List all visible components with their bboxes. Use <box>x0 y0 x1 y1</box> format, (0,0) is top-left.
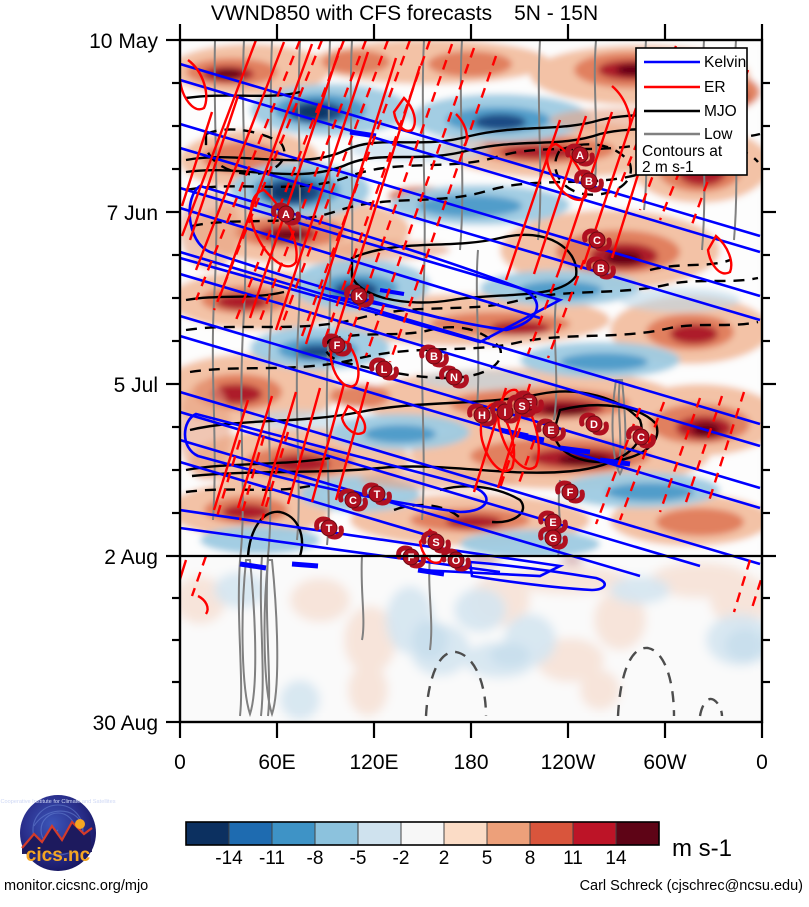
legend-label-er: ER <box>704 79 726 96</box>
chart-legend: Kelvin ER MJO Low Contours at 2 m s-1 <box>636 48 747 176</box>
svg-text:F: F <box>408 552 415 564</box>
colorbar-swatch-3 <box>315 822 358 845</box>
colorbar-swatch-5 <box>401 822 444 845</box>
colorbar-tick-label-9: 14 <box>605 848 627 869</box>
x-tick-label-4: 120W <box>541 751 596 774</box>
logo-ring-text: Cooperative Institute for Climate and Sa… <box>0 799 115 805</box>
svg-text:T: T <box>326 523 333 535</box>
colorbar-tick-label-3: -5 <box>350 848 367 869</box>
svg-text:H: H <box>478 410 486 422</box>
hovmoller-figure: VWND850 with CFS forecasts5N - 15N <box>0 0 809 907</box>
y-tick-label-0: 10 May <box>89 30 158 53</box>
y-tick-label-1: 7 Jun <box>107 202 158 225</box>
colorbar-tick-label-5: 2 <box>439 848 450 869</box>
y-tick-label-2: 5 Jul <box>114 374 158 397</box>
x-axis-labels: 0 60E 120E 180 120W 60W 0 <box>174 751 768 774</box>
y-tick-label-3: 2 Aug <box>104 546 158 569</box>
svg-text:B: B <box>430 351 438 363</box>
x-tick-label-5: 60W <box>643 751 686 774</box>
colorbar-tick-label-7: 8 <box>525 848 536 869</box>
svg-text:C: C <box>349 495 357 507</box>
svg-text:B: B <box>597 263 605 275</box>
colorbar-tick-label-1: -11 <box>259 848 285 869</box>
hovmoller-chart: AABCBKFLBNHIESEDCFCTEGTFSO <box>0 0 809 907</box>
colorbar-swatch-6 <box>444 822 487 845</box>
x-tick-label-1: 60E <box>258 751 295 774</box>
colorbar-tick-label-0: -14 <box>215 848 243 869</box>
legend-note-line1: Contours at <box>642 143 723 160</box>
svg-text:T: T <box>374 489 381 501</box>
svg-text:A: A <box>282 209 290 221</box>
colorbar-swatch-9 <box>573 822 616 845</box>
svg-text:G: G <box>549 533 558 545</box>
svg-text:S: S <box>432 537 439 549</box>
colorbar-swatch-2 <box>272 822 315 845</box>
colorbar-tick-label-6: 5 <box>482 848 493 869</box>
colorbar-tick-label-4: -2 <box>393 848 410 869</box>
svg-text:S: S <box>518 401 525 413</box>
legend-label-mjo: MJO <box>704 103 737 120</box>
colorbar-swatch-1 <box>229 822 272 845</box>
legend-label-low: Low <box>704 126 733 143</box>
x-tick-label-3: 180 <box>453 751 488 774</box>
colorbar-swatch-10 <box>616 822 659 845</box>
colorbar-tick-label-8: 11 <box>563 848 583 869</box>
colorbar-swatch-8 <box>530 822 573 845</box>
colorbar: -14-11-8-5-22581114 m s-1 <box>186 822 732 869</box>
colorbar-unit: m s-1 <box>672 835 732 862</box>
legend-note-line2: 2 m s-1 <box>642 159 694 176</box>
colorbar-swatch-0 <box>186 822 229 845</box>
y-tick-label-4: 30 Aug <box>93 712 158 735</box>
svg-text:D: D <box>590 419 598 431</box>
svg-text:N: N <box>450 372 458 384</box>
svg-text:L: L <box>381 364 388 376</box>
svg-text:C: C <box>637 432 645 444</box>
svg-text:F: F <box>567 487 574 499</box>
svg-text:K: K <box>355 291 363 303</box>
x-tick-label-6: 0 <box>756 751 768 774</box>
x-tick-label-2: 120E <box>349 751 398 774</box>
svg-text:A: A <box>576 150 584 162</box>
svg-text:B: B <box>585 176 593 188</box>
colorbar-swatch-7 <box>487 822 530 845</box>
x-tick-label-0: 0 <box>174 751 186 774</box>
logo-text: cics.nc <box>26 845 91 866</box>
cics-nc-logo: cics.nc Cooperative Institute for Climat… <box>0 795 115 871</box>
y-axis-labels: 10 May 7 Jun 5 Jul 2 Aug 30 Aug <box>89 30 158 735</box>
svg-text:I: I <box>503 407 506 419</box>
footer-site-url: monitor.cicsnc.org/mjo <box>4 878 148 894</box>
footer-credit: Carl Schreck (cjschrec@ncsu.edu) <box>580 878 803 894</box>
legend-label-kelvin: Kelvin <box>704 54 746 71</box>
svg-text:F: F <box>334 340 341 352</box>
colorbar-swatch-4 <box>358 822 401 845</box>
svg-text:C: C <box>593 235 601 247</box>
svg-text:E: E <box>547 425 554 437</box>
colorbar-tick-label-2: -8 <box>307 848 324 869</box>
